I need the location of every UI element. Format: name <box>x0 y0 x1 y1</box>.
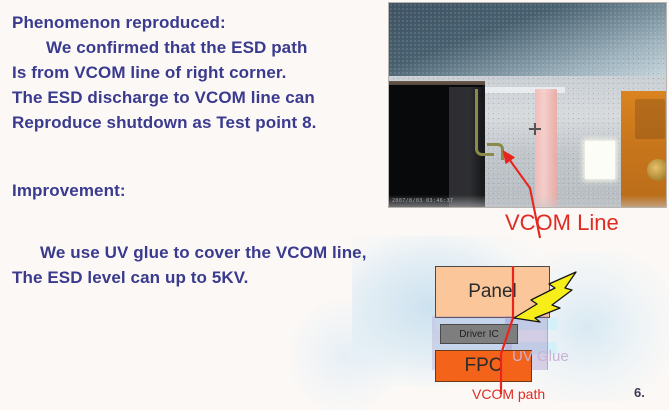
photo-vcom-trace-bend <box>487 143 504 160</box>
phenomenon-line-4: Reproduce shutdown as Test point 8. <box>12 110 317 135</box>
uv-glue-label: UV Glue <box>512 348 569 365</box>
photo-bright-pad <box>585 141 615 179</box>
phenomenon-line-3: The ESD discharge to VCOM line can <box>12 85 317 110</box>
photo-pink-strip <box>535 89 557 208</box>
improvement-line-2: The ESD level can up to 5KV. <box>12 265 367 290</box>
background-watermark-cloud-tertiary <box>290 300 400 410</box>
diagram-driver-ic-box: Driver IC <box>440 324 518 344</box>
esd-failure-photograph: 2007/8/03 03:46:37 <box>388 2 667 208</box>
improvement-heading: Improvement: <box>12 178 126 203</box>
photo-timestamp: 2007/8/03 03:46:37 <box>392 198 453 204</box>
panel-stack-diagram: Panel Driver IC FPC UV Glue VCOM path <box>400 250 669 410</box>
photo-screw-head <box>529 123 541 135</box>
slide-canvas: Phenomenon reproduced: We confirmed that… <box>0 0 669 410</box>
phenomenon-line-2: Is from VCOM line of right corner. <box>12 60 317 85</box>
phenomenon-block: Phenomenon reproduced: We confirmed that… <box>12 10 317 135</box>
improvement-block: Improvement: <box>12 178 126 203</box>
improvement-body-block: We use UV glue to cover the VCOM line, T… <box>12 240 367 290</box>
diagram-panel-box: Panel <box>435 266 550 318</box>
phenomenon-line-1: We confirmed that the ESD path <box>12 35 317 60</box>
page-number: 6. <box>634 385 645 400</box>
photo-flex-cable-window <box>635 99 665 139</box>
phenomenon-heading: Phenomenon reproduced: <box>12 10 317 35</box>
photo-gold-contact <box>647 159 667 181</box>
improvement-line-1: We use UV glue to cover the VCOM line, <box>12 240 367 265</box>
vcom-path-label: VCOM path <box>472 386 545 402</box>
vcom-line-caption: VCOM Line <box>505 210 619 236</box>
